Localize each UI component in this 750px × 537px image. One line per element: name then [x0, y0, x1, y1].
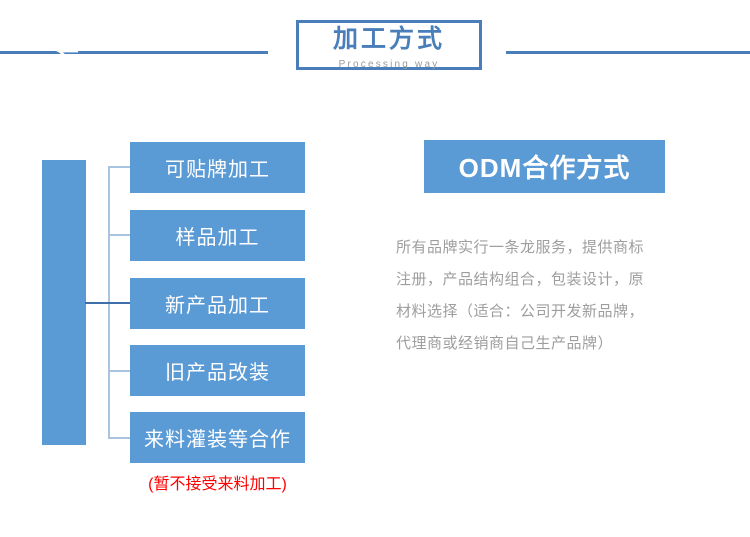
odm-description-line: 所有品牌实行一条龙服务，提供商标 [396, 232, 696, 264]
oem-item-box: 样品加工 [130, 210, 305, 261]
bracket-stub-4 [108, 370, 132, 372]
oem-item-box: 旧产品改装 [130, 345, 305, 396]
oem-vertical-bar-label: OEM合作方式 [42, 0, 86, 204]
oem-item-box: 新产品加工 [130, 278, 305, 329]
odm-description-line: 注册，产品结构组合，包装设计，原 [396, 264, 696, 296]
odm-description: 所有品牌实行一条龙服务，提供商标 注册，产品结构组合，包装设计，原 材料选择（适… [396, 232, 696, 360]
bracket-trunk [85, 302, 132, 304]
bracket-stub-5 [108, 437, 132, 439]
header-band: 加工方式 Processing way [0, 0, 750, 95]
bracket-stub-2 [108, 234, 132, 236]
odm-description-line: 代理商或经销商自己生产品牌） [396, 328, 696, 360]
header-rule-right [506, 51, 750, 54]
page-title: 加工方式 [296, 22, 482, 56]
odm-heading-box: ODM合作方式 [424, 140, 665, 193]
bracket-stub-1 [108, 166, 132, 168]
oem-disclaimer-note: (暂不接受来料加工) [130, 470, 305, 494]
oem-item-box: 可贴牌加工 [130, 142, 305, 193]
page-subtitle: Processing way [296, 58, 482, 72]
odm-description-line: 材料选择（适合：公司开发新品牌， [396, 296, 696, 328]
odm-heading-label: ODM合作方式 [459, 148, 631, 185]
oem-item-box: 来料灌装等合作 [130, 412, 305, 463]
header-rule-left [0, 51, 268, 54]
